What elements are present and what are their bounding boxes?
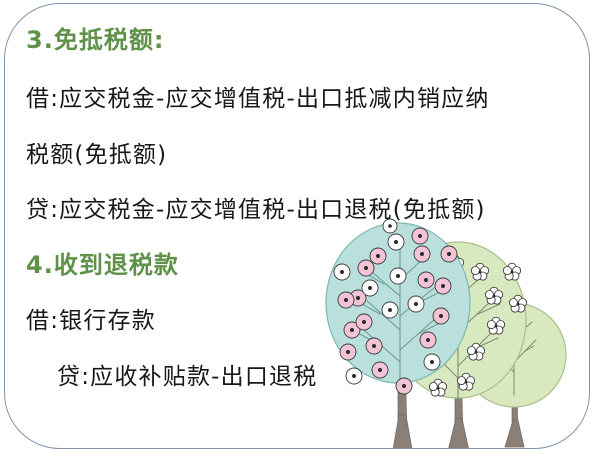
tree-illustration [0,0,600,456]
slide-canvas: 3.免抵税额: 借:应交税金-应交增值税-出口抵减内销应纳 税额(免抵额) 贷:… [0,0,600,456]
tree-teal-pink-blossoms [326,219,470,455]
